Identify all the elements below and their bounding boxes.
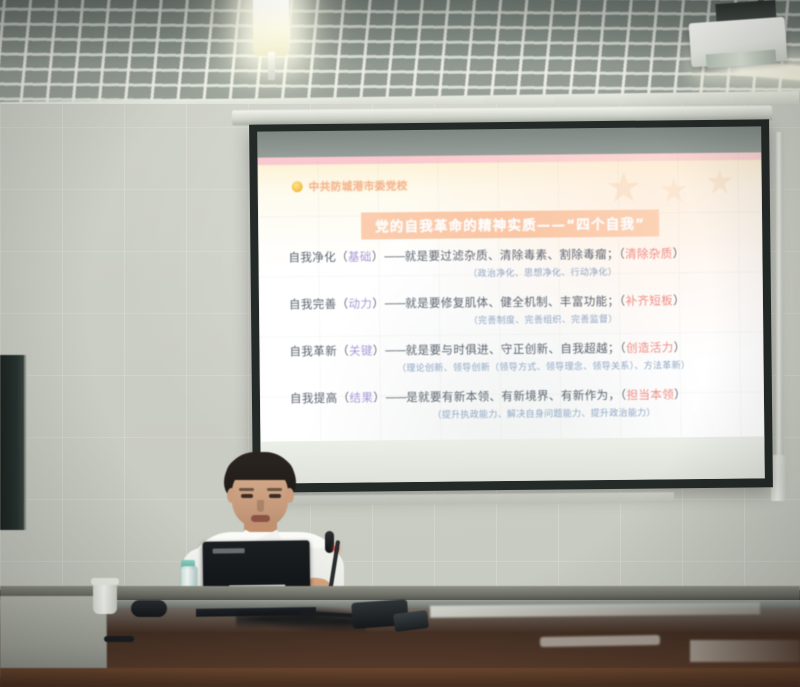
line-4-dash: —— bbox=[385, 390, 406, 404]
star-watermark-icon bbox=[604, 166, 754, 212]
slide-brand-text: 中共防城港市委党校 bbox=[309, 178, 408, 194]
pen bbox=[104, 636, 134, 642]
line-4-subject: 自我提高 bbox=[290, 391, 338, 405]
presenter-nose bbox=[257, 500, 264, 512]
presenter-brow-right bbox=[267, 488, 282, 491]
line-1-subject: 自我净化 bbox=[288, 250, 336, 264]
lecture-room-photo: 中共防城港市委党校 党的自我革命的精神实质——“四个自我” 自我净化（基础）——… bbox=[0, 0, 800, 687]
line-4-lparen: （ bbox=[337, 391, 349, 405]
presenter-eye-right bbox=[269, 494, 281, 498]
slide-line-4-sub: （提升执政能力、解决自身问题能力、提升政治能力） bbox=[260, 404, 764, 422]
blackboard-edge bbox=[0, 355, 26, 530]
slide-line-4-main: 自我提高（结果）——是就要有新本领、有新境界、有新作为，（担当本领） bbox=[260, 385, 764, 406]
line-3-tag-close: ） bbox=[674, 340, 686, 354]
line-4-keyword: 结果 bbox=[349, 390, 373, 404]
line-2-body: 就是要修复肌体、健全机制、丰富功能； bbox=[405, 294, 619, 310]
slide-line-2-main: 自我完善（动力）——就是要修复肌体、健全机制、丰富功能；（补齐短板） bbox=[259, 291, 763, 312]
desk-cables bbox=[236, 606, 366, 632]
line-3-subject: 自我革新 bbox=[289, 344, 337, 358]
line-3-tag: 创造活力 bbox=[626, 340, 674, 354]
line-3-body: 就是要与时俱进、守正创新、自我超越； bbox=[406, 341, 620, 357]
desk-reflection-light bbox=[540, 635, 660, 647]
microphone-head-icon bbox=[325, 531, 334, 553]
slide-brand: 中共防城港市委党校 bbox=[292, 178, 408, 194]
line-1-keyword: 基础 bbox=[348, 249, 372, 263]
projected-slide: 中共防城港市委党校 党的自我革命的精神实质——“四个自我” 自我净化（基础）——… bbox=[257, 152, 764, 457]
slide-line-3: 自我革新（关键）——就是要与时俱进、守正创新、自我超越；（创造活力） （理论创新… bbox=[259, 338, 763, 375]
line-1-dash: —— bbox=[384, 249, 405, 263]
lamp-stem bbox=[268, 52, 275, 80]
line-3-dash: —— bbox=[385, 343, 406, 357]
screen-surface: 中共防城港市委党校 党的自我革命的精神实质——“四个自我” 自我净化（基础）——… bbox=[257, 126, 765, 483]
presenter-mouth bbox=[251, 515, 270, 522]
line-3-lparen: （ bbox=[337, 344, 349, 358]
slide-line-1: 自我净化（基础）——就是要过滤杂质、清除毒素、割除毒瘤；（清除杂质） （政治净化… bbox=[258, 244, 762, 281]
presenter-eye-left bbox=[241, 494, 253, 498]
line-2-tag: 补齐短板 bbox=[625, 293, 673, 307]
line-1-lparen: （ bbox=[336, 250, 348, 264]
presenter-hair-front bbox=[226, 458, 294, 480]
slide-title: 党的自我革命的精神实质——“四个自我” bbox=[361, 209, 659, 239]
projection-screen: 中共防城港市委党校 党的自我革命的精神实质——“四个自我” 自我净化（基础）——… bbox=[249, 119, 773, 492]
slide-line-2-sub: （完善制度、完善组织、完善监督） bbox=[259, 310, 763, 328]
podium-side-panel bbox=[0, 596, 107, 678]
line-1-tag-close: ） bbox=[673, 246, 685, 260]
ceiling bbox=[0, 0, 800, 118]
line-4-rparen: ） bbox=[373, 390, 385, 404]
line-2-keyword: 动力 bbox=[348, 296, 372, 310]
laptop-brand-logo-icon bbox=[213, 548, 245, 553]
paper-cup-lid bbox=[91, 578, 119, 585]
party-emblem-icon bbox=[292, 181, 303, 192]
line-4-body: 是就要有新本领、有新境界、有新作为， bbox=[406, 388, 620, 404]
paper-cup bbox=[93, 582, 117, 614]
line-2-rparen: ） bbox=[372, 296, 384, 310]
desk-reflection-right bbox=[690, 640, 800, 662]
slide-line-4: 自我提高（结果）——是就要有新本领、有新境界、有新作为，（担当本领） （提升执政… bbox=[260, 385, 764, 422]
line-1-body: 就是要过滤杂质、清除毒素、割除毒瘤； bbox=[405, 247, 619, 263]
wall-conduit-box bbox=[771, 455, 786, 501]
line-2-lparen: （ bbox=[337, 297, 349, 311]
slide-line-1-sub: （政治净化、思想净化、行动净化） bbox=[259, 263, 763, 281]
line-4-tag-close: ） bbox=[674, 387, 686, 401]
line-3-rparen: ） bbox=[373, 343, 385, 357]
fluorescent-lamp-icon bbox=[253, 0, 289, 56]
presenter-ear-left bbox=[227, 488, 236, 503]
line-3-keyword: 关键 bbox=[349, 343, 373, 357]
line-4-tag: 担当本领 bbox=[626, 387, 674, 401]
presenter-brow-left bbox=[239, 488, 254, 491]
line-2-dash: —— bbox=[384, 296, 405, 310]
line-1-tag: 清除杂质 bbox=[625, 246, 673, 260]
wall-conduit bbox=[776, 132, 783, 462]
slide-line-2: 自我完善（动力）——就是要修复肌体、健全机制、丰富功能；（补齐短板） （完善制度… bbox=[259, 291, 763, 328]
slide-line-3-sub: （理论创新、领导创新（领导方式、领导理念、领导关系）、方法革新） bbox=[260, 357, 764, 375]
presenter-ear-right bbox=[285, 488, 294, 503]
line-2-tag-close: ） bbox=[673, 293, 685, 307]
desk-front-edge bbox=[0, 668, 800, 687]
line-1-rparen: ） bbox=[372, 249, 384, 263]
slide-body: 自我净化（基础）——就是要过滤杂质、清除毒素、割除毒瘤；（清除杂质） （政治净化… bbox=[258, 244, 764, 437]
line-2-subject: 自我完善 bbox=[289, 297, 337, 311]
slide-line-3-main: 自我革新（关键）——就是要与时俱进、守正创新、自我超越；（创造活力） bbox=[259, 338, 763, 359]
computer-mouse bbox=[131, 600, 167, 617]
